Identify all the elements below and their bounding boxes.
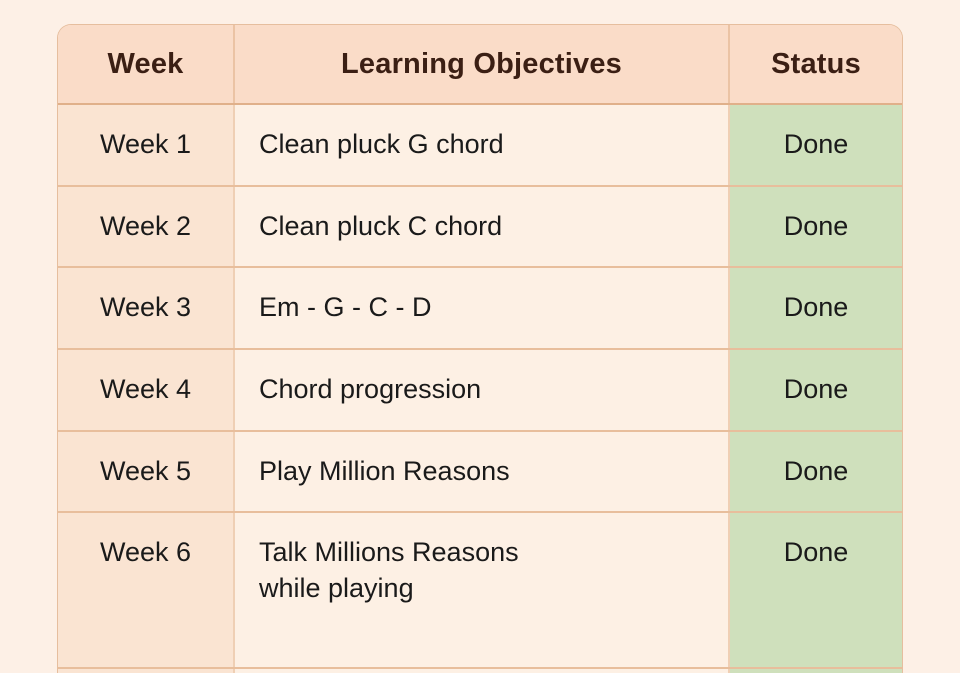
week-label: Week 5 [58, 432, 233, 512]
objective-line: Talk Millions Reasons [259, 535, 714, 571]
status-badge: Done [730, 432, 902, 512]
table-header-row: Week Learning Objectives Status [58, 25, 902, 104]
table-row[interactable]: Week 3 Em - G - C - D Done [58, 267, 902, 349]
cell-objective: Clean pluck C chord [234, 186, 729, 268]
cell-objective: Clean pluck G chord [234, 104, 729, 186]
cell-status: Done [729, 431, 902, 513]
objective-line: Clean pluck C chord [259, 209, 714, 245]
week-label: Week 2 [58, 187, 233, 267]
status-badge: Done [730, 105, 902, 185]
objective-line: Play Million Reasons [259, 454, 714, 490]
cell-objective: Play Million Reasons [234, 431, 729, 513]
practice-schedule-table: Week Learning Objectives Status Week 1 C… [58, 25, 902, 673]
objective-text: Folk strumming pattern [235, 669, 728, 673]
status-badge: Done [730, 350, 902, 430]
cell-status: Done [729, 512, 902, 668]
status-badge: Done [730, 513, 902, 667]
column-header-status[interactable]: Status [729, 25, 902, 104]
table-row[interactable]: Week 7 Folk strumming pattern Done [58, 668, 902, 673]
page-root: Week Learning Objectives Status Week 1 C… [0, 0, 960, 673]
cell-status: Done [729, 668, 902, 673]
cell-status: Done [729, 349, 902, 431]
cell-week: Week 6 [58, 512, 234, 668]
objective-text: Em - G - C - D [235, 268, 728, 348]
status-badge: Done [730, 669, 902, 673]
cell-week: Week 5 [58, 431, 234, 513]
objective-line: while playing [259, 571, 714, 607]
column-header-learning-objectives[interactable]: Learning Objectives [234, 25, 729, 104]
cell-objective: Em - G - C - D [234, 267, 729, 349]
cell-status: Done [729, 104, 902, 186]
objective-text: Chord progression [235, 350, 728, 430]
status-badge: Done [730, 187, 902, 267]
objective-text: Clean pluck C chord [235, 187, 728, 267]
table-row[interactable]: Week 6 Talk Millions Reasons while playi… [58, 512, 902, 668]
cell-objective: Chord progression [234, 349, 729, 431]
objective-line: Em - G - C - D [259, 290, 714, 326]
practice-schedule-table-container: Week Learning Objectives Status Week 1 C… [58, 25, 902, 673]
cell-week: Week 2 [58, 186, 234, 268]
table-row[interactable]: Week 5 Play Million Reasons Done [58, 431, 902, 513]
week-label: Week 4 [58, 350, 233, 430]
week-label: Week 7 [58, 669, 233, 673]
week-label: Week 6 [58, 513, 233, 667]
objective-line: Chord progression [259, 372, 714, 408]
table-body: Week 1 Clean pluck G chord Done Week 2 [58, 104, 902, 673]
week-label: Week 3 [58, 268, 233, 348]
objective-text: Clean pluck G chord [235, 105, 728, 185]
cell-week: Week 1 [58, 104, 234, 186]
cell-status: Done [729, 267, 902, 349]
table-row[interactable]: Week 1 Clean pluck G chord Done [58, 104, 902, 186]
table-row[interactable]: Week 2 Clean pluck C chord Done [58, 186, 902, 268]
objective-line: Clean pluck G chord [259, 127, 714, 163]
cell-objective: Folk strumming pattern [234, 668, 729, 673]
objective-text: Talk Millions Reasons while playing [235, 513, 728, 628]
column-header-week[interactable]: Week [58, 25, 234, 104]
status-badge: Done [730, 268, 902, 348]
objective-text: Play Million Reasons [235, 432, 728, 512]
cell-week: Week 7 [58, 668, 234, 673]
cell-week: Week 3 [58, 267, 234, 349]
cell-week: Week 4 [58, 349, 234, 431]
cell-status: Done [729, 186, 902, 268]
table-row[interactable]: Week 4 Chord progression Done [58, 349, 902, 431]
cell-objective: Talk Millions Reasons while playing [234, 512, 729, 668]
table-header: Week Learning Objectives Status [58, 25, 902, 104]
week-label: Week 1 [58, 105, 233, 185]
